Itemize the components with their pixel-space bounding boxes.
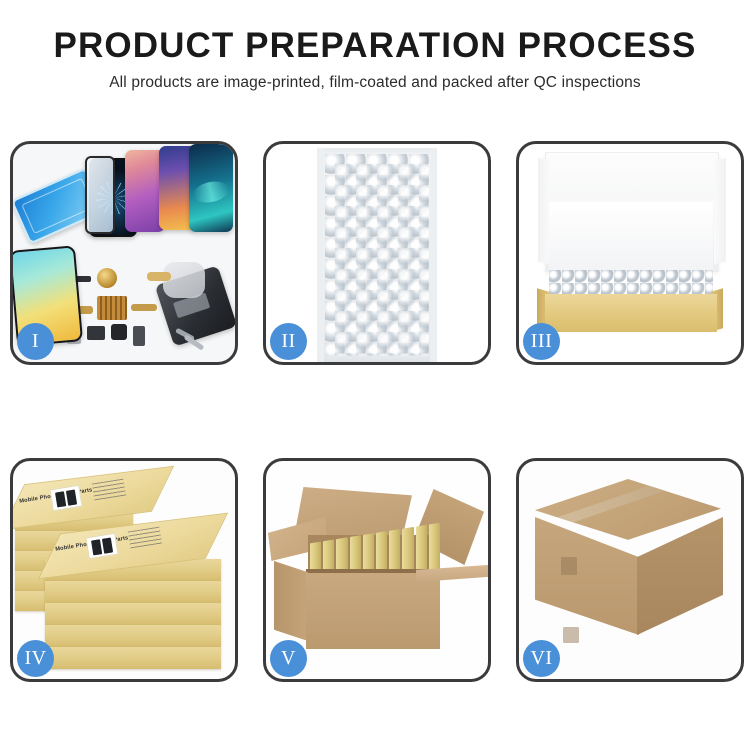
- process-step-panel-4: Mobile Phone Spare Parts Mobile Phone Sp…: [10, 458, 238, 682]
- bubble-pouch: [317, 148, 437, 362]
- carton-handle-tab-top: [561, 557, 577, 575]
- step-badge-3: III: [523, 323, 560, 360]
- retail-box-edge: [45, 581, 221, 603]
- flex-cable-part-2: [131, 304, 157, 311]
- phone-glass-panel: [85, 156, 115, 234]
- product-preparation-process-image: PRODUCT PREPARATION PROCESS All products…: [0, 0, 750, 750]
- spare-parts-group: [71, 268, 207, 362]
- carton-side-left: [274, 561, 308, 641]
- button-part: [133, 326, 145, 346]
- box-front-panel: [545, 294, 717, 332]
- step-badge-1: I: [17, 323, 54, 360]
- retail-box-edge: [45, 603, 221, 625]
- step-badge-4: IV: [17, 640, 54, 677]
- chip-grid-part: [97, 296, 127, 320]
- process-step-panel-6: VI: [516, 458, 744, 682]
- header: PRODUCT PREPARATION PROCESS All products…: [0, 0, 750, 92]
- step-badge-6: VI: [523, 640, 560, 677]
- carton-handle-tab-bottom: [563, 627, 579, 643]
- page-title: PRODUCT PREPARATION PROCESS: [0, 28, 750, 65]
- foam-sheet: [549, 202, 713, 274]
- process-step-panel-1: I: [10, 141, 238, 365]
- carton-front-panel: [306, 573, 440, 649]
- pouch-sealed-edge: [317, 148, 437, 362]
- box-print-screen-art: [49, 485, 82, 511]
- carton-side-right: [637, 517, 723, 635]
- process-step-grid: I II III: [10, 141, 740, 682]
- step-badge-5: V: [270, 640, 307, 677]
- step-badge-2: II: [270, 323, 307, 360]
- box-print-screen-art: [85, 533, 118, 559]
- speaker-part: [87, 326, 105, 340]
- process-step-panel-5: V: [263, 458, 491, 682]
- speaker-coil-part: [97, 268, 117, 288]
- camera-module-part: [111, 324, 127, 340]
- process-step-panel-3: III: [516, 141, 744, 365]
- retail-box-edge: [45, 647, 221, 669]
- page-subtitle: All products are image-printed, film-coa…: [0, 74, 750, 92]
- retail-box-edge: [45, 625, 221, 647]
- process-step-panel-2: II: [263, 141, 491, 365]
- bubble-wrapped-contents: [549, 270, 713, 296]
- carton-tape-seam: [557, 461, 723, 526]
- phone-display-teal: [189, 144, 233, 232]
- flex-cable-part-3: [147, 272, 171, 281]
